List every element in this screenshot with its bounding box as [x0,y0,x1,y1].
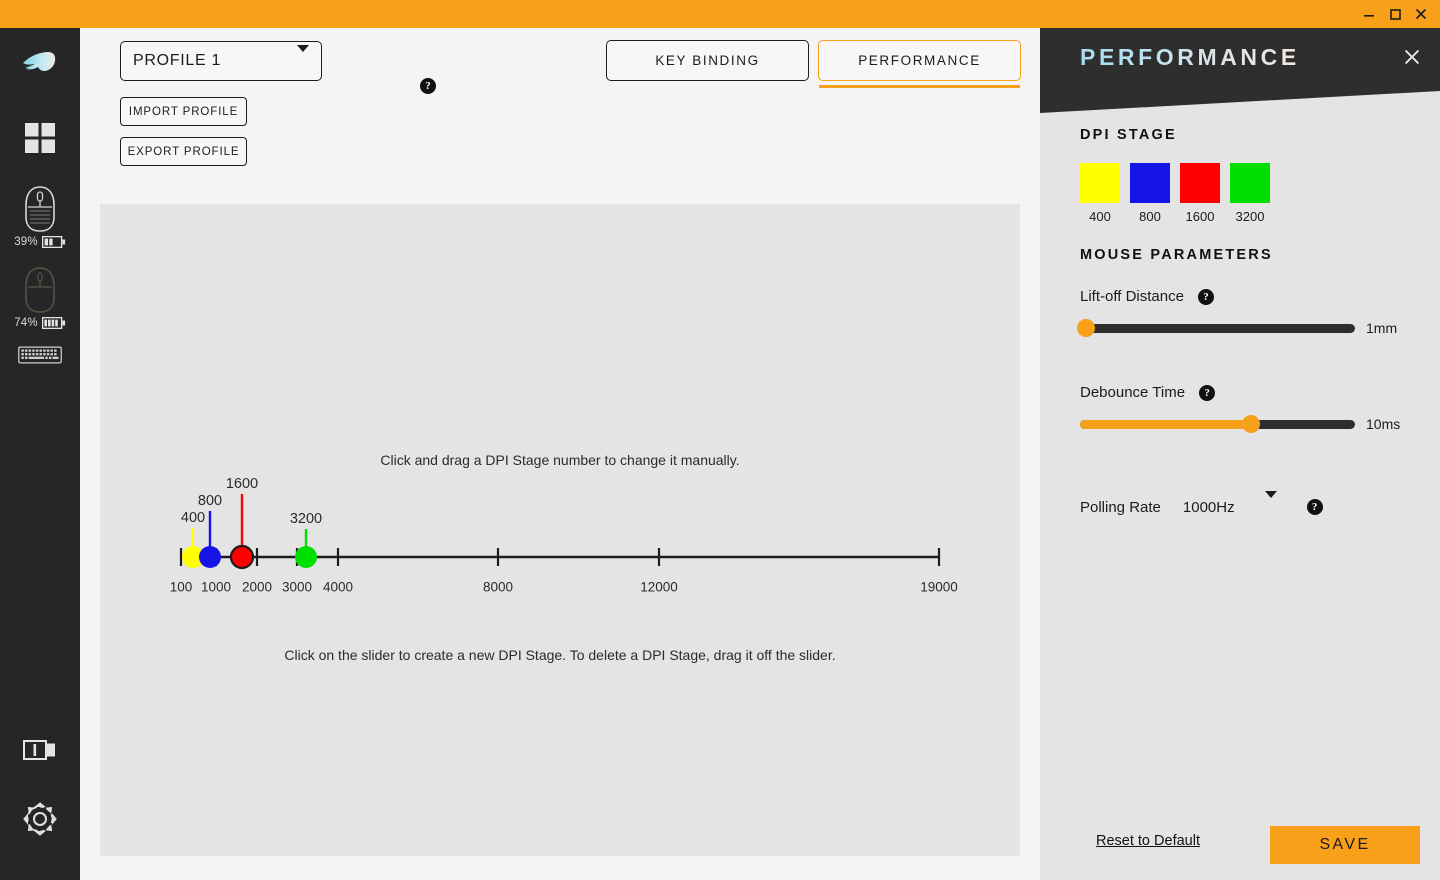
dpi-swatch-list: 40080016003200 [1080,163,1270,224]
profile-select[interactable]: PROFILE 1 [120,41,322,81]
slider-knob[interactable] [1242,415,1260,433]
performance-panel-title: PERFORMANCE [1080,44,1300,71]
tab-performance[interactable]: PERFORMANCE [818,40,1021,81]
dpi-stage-handle[interactable] [199,546,221,568]
debounce-time-param: Debounce Time ? 10ms [1080,384,1410,432]
lift-off-distance-param: Lift-off Distance ? 1mm [1080,288,1410,336]
lift-off-distance-label: Lift-off Distance [1080,288,1184,305]
tab-bar: KEY BINDING PERFORMANCE [606,40,1021,81]
axis-tick-label: 19000 [920,580,958,595]
lift-off-help-icon[interactable]: ? [1198,289,1214,305]
debounce-help-icon[interactable]: ? [1199,385,1215,401]
battery-status-primary: 39% [14,236,66,248]
hint-create-delete-stage: Click on the slider to create a new DPI … [100,647,1020,663]
debounce-time-label: Debounce Time [1080,384,1185,401]
axis-tick-label: 1000 [201,580,231,595]
dpi-swatch[interactable]: 800 [1130,163,1170,224]
close-icon[interactable] [1399,44,1425,70]
sidebar: 39% 74% [0,28,80,880]
polling-rate-value[interactable]: 1000Hz [1183,499,1235,516]
profile-help-icon[interactable]: ? [420,78,436,94]
minimize-icon[interactable] [1356,0,1382,28]
dpi-swatch-color[interactable] [1180,163,1220,203]
import-profile-button[interactable]: IMPORT PROFILE [120,97,247,126]
battery-percent: 39% [14,236,38,248]
close-icon[interactable] [1408,0,1434,28]
dpi-swatch[interactable]: 400 [1080,163,1120,224]
export-profile-button[interactable]: EXPORT PROFILE [120,137,247,166]
save-button[interactable]: SAVE [1270,826,1420,864]
lift-off-distance-slider[interactable] [1080,324,1355,333]
sidebar-item-dashboard[interactable] [18,121,62,155]
maximize-icon[interactable] [1382,0,1408,28]
axis-tick-label: 3000 [282,580,312,595]
dpi-stage-label[interactable]: 1600 [226,476,258,492]
lift-off-distance-value: 1mm [1366,320,1397,336]
axis-tick-label: 12000 [640,580,678,595]
main-content: PROFILE 1 ? IMPORT PROFILE EXPORT PROFIL… [80,28,1040,880]
dpi-stage-label[interactable]: 3200 [290,511,322,527]
dpi-stage-label[interactable]: 400 [181,510,205,526]
dpi-swatch-label: 800 [1139,209,1161,224]
dpi-stage-section-title: DPI STAGE [1080,127,1177,143]
mouse-icon [23,185,57,233]
battery-icon [42,317,66,329]
battery-icon [42,236,66,248]
reset-to-default-link[interactable]: Reset to Default [1096,833,1200,849]
mouse-icon [23,266,57,314]
axis-tick-label: 4000 [323,580,353,595]
dpi-stage-handle[interactable] [231,546,253,568]
dpi-swatch-label: 3200 [1236,209,1265,224]
polling-rate-label: Polling Rate [1080,499,1161,516]
sidebar-item-panel-toggle[interactable] [18,738,62,764]
polling-rate-row: Polling Rate 1000Hz ? [1080,498,1323,516]
sidebar-item-mouse-primary[interactable]: 39% [14,185,66,248]
debounce-time-value: 10ms [1366,416,1400,432]
sidebar-item-keyboard[interactable] [18,346,62,364]
grid-icon [23,121,57,155]
pegasus-logo-icon [17,41,63,85]
performance-panel: PERFORMANCE DPI STAGE 40080016003200 MOU… [1040,28,1440,880]
battery-percent: 74% [14,317,38,329]
slider-knob[interactable] [1077,319,1095,337]
battery-status-secondary: 74% [14,317,66,329]
dpi-stage-label[interactable]: 800 [198,493,222,509]
mouse-parameters-section-title: MOUSE PARAMETERS [1080,247,1273,263]
dpi-panel: Click and drag a DPI Stage number to cha… [100,204,1020,856]
panel-toggle-icon [23,738,57,764]
dpi-stage-handle[interactable] [295,546,317,568]
sidebar-item-mouse-secondary[interactable]: 74% [14,266,66,329]
slider-fill [1080,420,1251,429]
title-bar [0,0,1440,28]
app-window: 39% 74% [0,0,1440,880]
axis-tick-label: 2000 [242,580,272,595]
profile-select-value: PROFILE 1 [133,52,221,70]
chevron-down-icon[interactable] [1265,498,1277,516]
tab-key-binding[interactable]: KEY BINDING [606,40,809,81]
polling-rate-help-icon[interactable]: ? [1307,499,1323,515]
axis-tick-label: 100 [170,580,193,595]
gear-icon [21,800,59,838]
sidebar-item-settings[interactable] [18,800,62,838]
chevron-down-icon [297,52,309,70]
debounce-time-slider[interactable] [1080,420,1355,429]
dpi-swatch-label: 1600 [1186,209,1215,224]
dpi-stage-slider[interactable]: 1001000200030004000800012000190004008001… [100,204,1020,856]
axis-tick-label: 8000 [483,580,513,595]
dpi-swatch[interactable]: 3200 [1230,163,1270,224]
dpi-swatch-color[interactable] [1080,163,1120,203]
dpi-swatch-label: 400 [1089,209,1111,224]
dpi-swatch[interactable]: 1600 [1180,163,1220,224]
dpi-swatch-color[interactable] [1130,163,1170,203]
keyboard-icon [18,346,62,364]
dpi-swatch-color[interactable] [1230,163,1270,203]
